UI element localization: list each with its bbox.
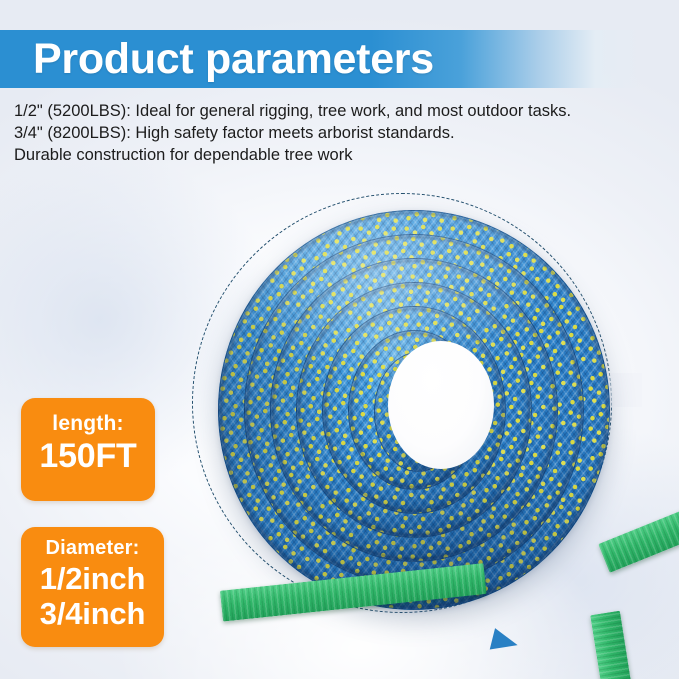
product-parameters-page: Product parameters 1/2" (5200LBS): Ideal… <box>0 0 679 679</box>
length-badge-caption: length: <box>21 411 155 437</box>
spec-line: 3/4" (8200LBS): High safety factor meets… <box>14 122 654 144</box>
length-badge-value: 150FT <box>21 437 155 475</box>
spec-line: Durable construction for dependable tree… <box>14 144 654 166</box>
green-strap <box>598 463 679 573</box>
direction-arrow-icon <box>490 628 521 656</box>
page-title: Product parameters <box>33 26 434 92</box>
diameter-badge-value-2: 3/4inch <box>21 596 164 631</box>
spec-list: 1/2" (5200LBS): Ideal for general riggin… <box>14 100 654 166</box>
coil-center-hole <box>388 341 494 469</box>
diameter-badge-value-1: 1/2inch <box>21 561 164 596</box>
spec-line: 1/2" (5200LBS): Ideal for general riggin… <box>14 100 654 122</box>
rope-coil-illustration <box>180 185 640 645</box>
length-badge: length: 150FT <box>21 398 155 501</box>
diameter-badge: Diameter: 1/2inch 3/4inch <box>21 527 164 647</box>
green-strap <box>590 611 652 679</box>
diameter-badge-caption: Diameter: <box>21 536 164 561</box>
